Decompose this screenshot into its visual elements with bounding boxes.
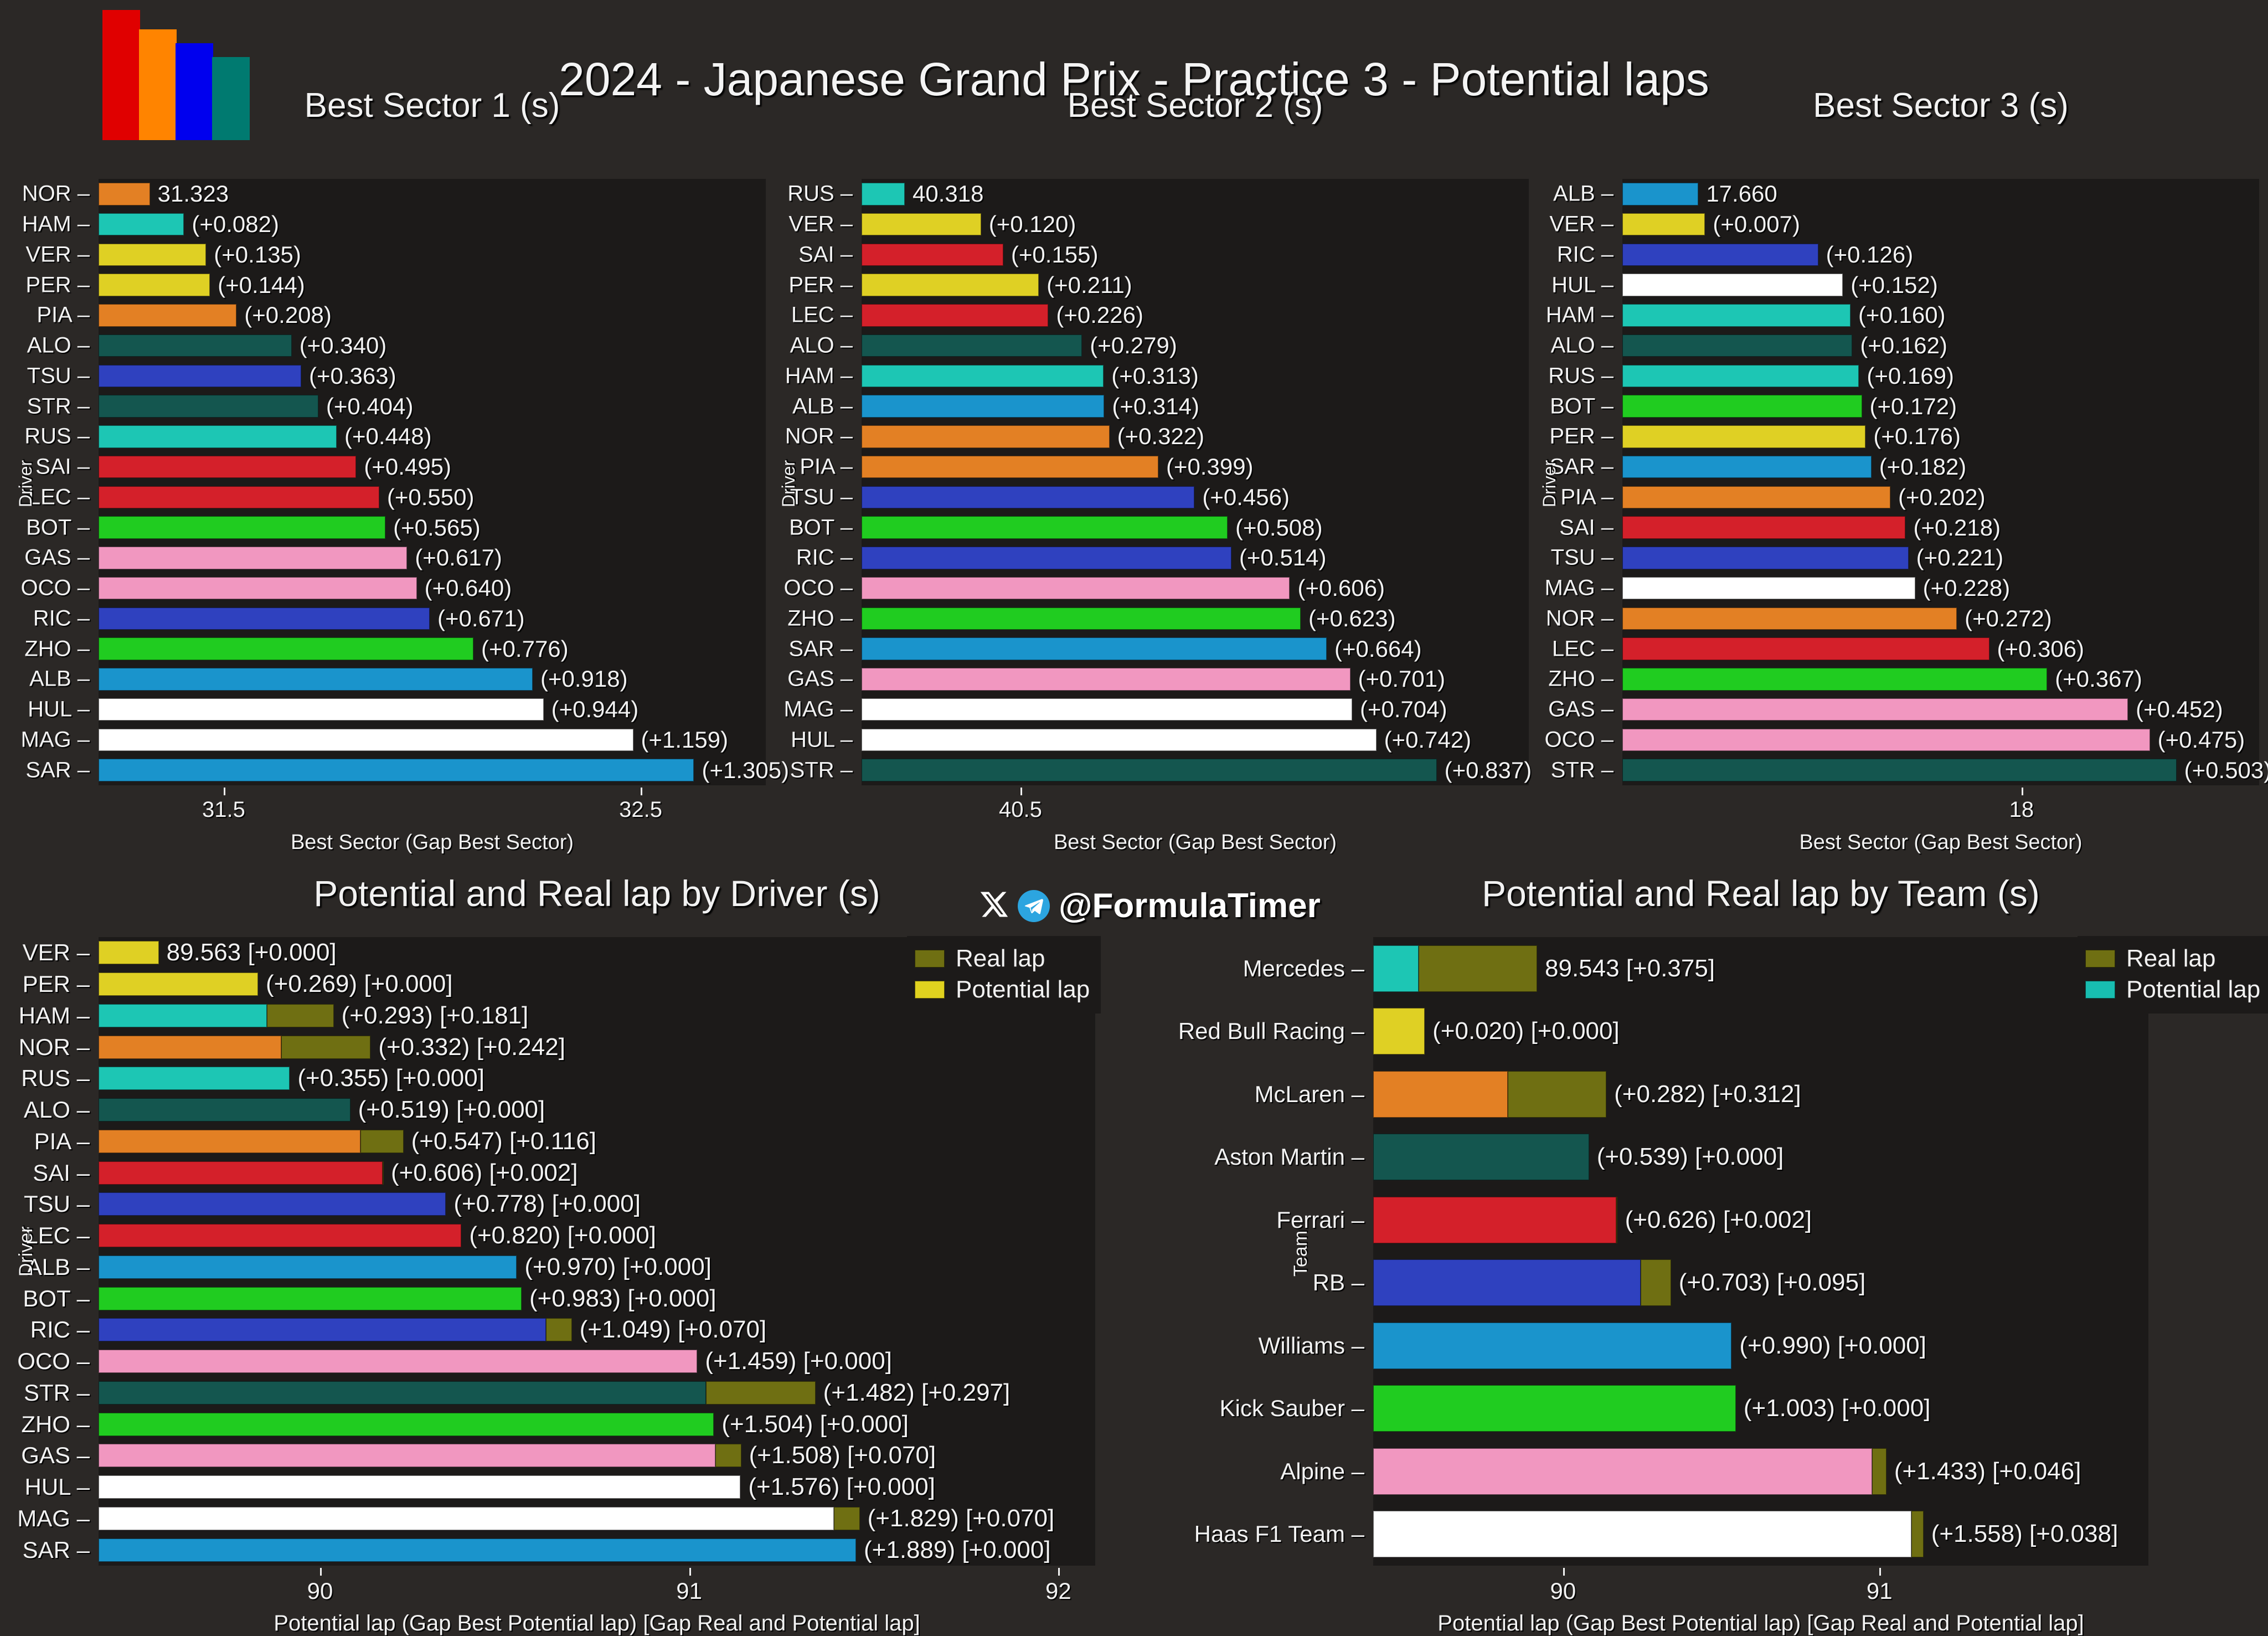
chart-row: ALB –17.660 [1622,183,2259,205]
bar-value-label: (+0.399) [1166,454,1254,480]
bar-potential [99,973,258,996]
row-label: LEC – [1552,636,1614,661]
row-label: VER – [25,242,90,267]
row-label: PIA – [34,1128,90,1155]
bar-potential [1622,213,1705,236]
bar-value-label: (+0.355) [+0.000] [297,1064,484,1092]
bar-potential [1622,759,2177,781]
bar-value-label: (+0.160) [1858,302,1946,328]
bar-potential [862,516,1228,539]
row-label: PER – [788,272,853,297]
x-tick-label: 90 [307,1578,333,1604]
bar-potential [1622,395,1862,418]
chart-row: RB –(+0.703) [+0.095] [1373,1259,2148,1306]
bar-value-label: (+0.363) [309,363,396,389]
chart-row: PER –(+0.144) [99,274,766,296]
bar-potential [99,547,407,569]
chart-row: BOT –(+0.508) [862,516,1529,539]
row-label: OCO – [17,1348,90,1375]
bar-value-label: (+0.742) [1384,727,1472,753]
row-label: Williams – [1259,1333,1364,1359]
bar-potential [862,425,1110,448]
bar-potential [99,425,337,448]
chart-row: MAG –(+1.159) [99,729,766,752]
row-label: Mercedes – [1243,955,1364,982]
bar-value-label: (+1.049) [+0.070] [580,1316,767,1344]
row-label: SAR – [25,758,90,783]
chart-row: RIC –(+0.514) [862,547,1529,569]
bar-value-label: (+0.340) [300,332,387,359]
row-label: TSU – [1551,546,1614,570]
row-label: HAM – [1546,303,1614,328]
bar-potential [1373,1259,1641,1306]
legend-swatch [2085,981,2115,999]
legend-item-potential[interactable]: Potential lap [915,976,1090,1004]
row-label: HUL – [1551,272,1614,297]
chart-row: ALO –(+0.340) [99,335,766,357]
bar-real [360,1130,403,1153]
bar-real [281,1036,370,1059]
y-axis-title: Team [1290,1230,1312,1276]
row-label: VER – [788,212,853,237]
bar-potential [99,668,533,691]
bar-potential [862,668,1351,691]
row-label: VER – [23,939,90,966]
bar-potential [99,1381,706,1405]
bar-value-label: (+0.990) [+0.000] [1739,1332,1926,1360]
chart-row: HUL –(+0.742) [862,729,1529,752]
chart-row: LEC –(+0.306) [1622,637,2259,660]
bar-value-label: (+0.306) [1997,636,2085,662]
legend-label: Real lap [2126,945,2215,973]
row-label: MAG – [784,697,853,722]
x-axis-title: Best Sector (Gap Best Sector) [99,831,766,855]
row-label: SAI – [35,455,90,480]
row-label: HUL – [28,697,90,722]
bar-value-label: (+0.820) [+0.000] [469,1222,656,1249]
row-label: RUS – [1548,363,1614,388]
bar-value-label: (+0.120) [989,211,1076,238]
bar-value-label: (+0.448) [344,423,432,450]
bar-value-label: (+1.433) [+0.046] [1894,1458,2081,1485]
bar-value-label: (+0.202) [1898,484,1986,511]
bar-real [546,1318,572,1341]
chart-row: Aston Martin –(+0.539) [+0.000] [1373,1134,2148,1180]
row-label: RIC – [1557,242,1614,267]
bar-potential [1373,1323,1731,1369]
row-label: SAR – [23,1537,90,1563]
bar-value-label: (+0.503) [2184,757,2268,784]
bar-value-label: 17.660 [1706,181,1777,207]
chart-row: HUL –(+0.152) [1622,274,2259,296]
x-tick-label: 92 [1045,1578,1071,1604]
bar-potential [1622,547,1909,569]
bar-potential [862,244,1003,266]
row-label: VER – [1549,212,1614,237]
bar-value-label: (+0.367) [2055,666,2142,692]
bar-real [267,1004,334,1027]
plot-area: RUS –40.318VER –(+0.120)SAI –(+0.155)PER… [862,179,1529,785]
bar-value-label: (+0.703) [+0.095] [1679,1269,1866,1297]
bar-potential [99,335,292,357]
x-tick [1879,1568,1881,1576]
bar-potential [862,183,905,205]
bar-value-label: 31.323 [158,181,229,207]
row-label: NOR – [19,1034,90,1061]
bar-potential [862,395,1104,418]
chart-title: Best Sector 1 (s) [99,86,766,125]
row-label: SAI – [1559,515,1614,540]
bar-value-label: (+0.182) [1879,454,1967,480]
bar-potential [99,486,379,509]
row-label: ALB – [1553,182,1614,207]
bar-potential [1373,1448,1872,1495]
chart-row: NOR –(+0.332) [+0.242] [99,1036,1095,1059]
x-tick [224,788,225,795]
row-label: TSU – [27,363,90,388]
bar-value-label: (+0.944) [551,696,639,723]
row-label: OCO – [21,576,90,601]
y-axis-title: Driver [779,460,799,507]
chart-title: Best Sector 3 (s) [1622,86,2259,125]
x-tick [1563,1568,1565,1576]
row-label: ZHO – [21,1411,90,1438]
x-axis-title: Best Sector (Gap Best Sector) [862,831,1529,855]
bar-potential [862,637,1327,660]
bar-potential [99,1098,350,1121]
chart-row: Mercedes –89.543 [+0.375] [1373,945,2148,992]
bar-potential [1622,729,2150,752]
chart-row: ALO –(+0.519) [+0.000] [99,1098,1095,1121]
bar-potential [862,335,1082,357]
bar-potential [1373,1008,1425,1054]
bar-real [383,1161,384,1185]
bar-potential [99,1161,383,1185]
bar-potential [1373,1071,1508,1118]
bar-real [1616,1197,1617,1243]
legend-item-real[interactable]: Real lap [2085,945,2260,973]
chart-row: ALB –(+0.314) [862,395,1529,418]
x-axis-title: Best Sector (Gap Best Sector) [1622,831,2259,855]
row-label: STR – [790,758,853,783]
bar-potential [1622,304,1851,327]
row-label: Kick Sauber – [1220,1395,1364,1422]
bar-potential [1622,577,1915,600]
bar-value-label: (+0.837) [1445,757,1532,784]
bar-potential [99,516,385,539]
bar-value-label: (+0.495) [364,454,451,480]
row-label: TSU – [24,1191,90,1217]
chart-row: HUL –(+0.944) [99,698,766,721]
chart-panel-3: Best Sector 3 (s)ALB –17.660VER –(+0.007… [1622,86,2259,784]
chart-row: PIA –(+0.202) [1622,486,2259,509]
bar-real [1419,945,1537,992]
row-label: GAS – [787,667,853,692]
bar-potential [862,759,1437,781]
bar-potential [1622,456,1872,479]
chart-row: Red Bull Racing –(+0.020) [+0.000] [1373,1008,2148,1054]
bar-potential [1373,1385,1736,1432]
bar-potential [1622,608,1957,630]
chart-title: Potential and Real lap by Team (s) [1373,872,2148,914]
bar-potential [99,1224,461,1247]
row-label: PER – [25,272,90,297]
chart-row: TSU –(+0.456) [862,486,1529,509]
row-label: RB – [1313,1269,1364,1296]
bar-potential [862,304,1048,327]
bar-real [834,1507,860,1530]
row-label: HAM – [785,363,853,388]
bar-potential [99,183,150,205]
chart-row: NOR –(+0.272) [1622,608,2259,630]
bar-value-label: (+0.452) [2136,696,2223,723]
x-tick-label: 91 [676,1578,702,1604]
bar-potential [1622,244,1818,266]
bar-value-label: (+0.776) [481,636,569,662]
bar-value-label: (+0.272) [1965,605,2052,632]
row-label: NOR – [22,182,90,207]
bar-potential [1373,945,1419,992]
chart-row: OCO –(+0.640) [99,577,766,600]
legend-label: Potential lap [2126,976,2260,1004]
chart-row: MAG –(+0.704) [862,698,1529,721]
bar-value-label: (+0.313) [1111,363,1199,389]
row-label: ZHO – [24,636,90,661]
bar-value-label: (+1.003) [+0.000] [1744,1395,1931,1422]
bar-potential [1373,1197,1616,1243]
y-axis-title: Driver [16,460,36,507]
chart-row: BOT –(+0.565) [99,516,766,539]
row-label: ALO – [27,333,90,358]
bar-value-label: (+0.606) [+0.002] [391,1159,578,1187]
bar-potential [1622,365,1859,388]
x-tick-label: 18 [2009,798,2034,822]
bar-potential [862,547,1231,569]
chart-row: McLaren –(+0.282) [+0.312] [1373,1071,2148,1118]
bar-potential [862,577,1290,600]
row-label: ALO – [1551,333,1614,358]
chart-row: LEC –(+0.820) [+0.000] [99,1224,1095,1247]
row-label: HUL – [25,1474,90,1500]
bar-potential [99,608,430,630]
bar-value-label: (+0.226) [1056,302,1143,328]
chart-row: ALB –(+0.970) [+0.000] [99,1256,1095,1279]
chart-row: VER –(+0.120) [862,213,1529,236]
x-tick-label: 90 [1550,1578,1576,1604]
chart-title: Best Sector 2 (s) [862,86,1529,125]
row-label: BOT – [23,1285,90,1312]
chart-row: MAG –(+1.829) [+0.070] [99,1507,1095,1530]
bar-potential [99,1507,834,1530]
legend-item-real[interactable]: Real lap [915,945,1090,973]
bar-value-label: (+0.671) [437,605,525,632]
chart-row: SAI –(+0.155) [862,244,1529,266]
bar-value-label: (+0.269) [+0.000] [266,970,453,998]
y-axis-title: Driver [1539,460,1560,507]
bar-potential [99,1004,267,1027]
x-tick [320,1568,322,1576]
chart-row: BOT –(+0.172) [1622,395,2259,418]
x-tick [641,788,642,795]
chart-panel-1: Best Sector 1 (s)NOR –31.323HAM –(+0.082… [99,86,766,784]
row-label: Ferrari – [1276,1207,1364,1233]
bar-real [715,1444,741,1467]
chart-row: Alpine –(+1.433) [+0.046] [1373,1448,2148,1495]
bar-potential [99,456,356,479]
x-tick [689,1568,691,1576]
chart-row: ALB –(+0.918) [99,668,766,691]
bar-real [1911,1511,1924,1557]
chart-row: HUL –(+1.576) [+0.000] [99,1475,1095,1499]
chart-row: SAR –(+0.182) [1622,456,2259,479]
bar-potential [1622,698,2128,721]
row-label: GAS – [21,1442,90,1469]
row-label: HUL – [791,727,853,752]
bar-potential [99,729,633,752]
row-label: ALB – [29,667,90,692]
row-label: STR – [24,1380,90,1406]
bar-potential [1622,274,1843,296]
row-label: PER – [23,971,90,997]
bar-value-label: (+0.983) [+0.000] [529,1285,717,1313]
legend-driver-chart: Real lapPotential lap [907,936,1101,1014]
bar-potential [99,213,184,236]
chart-row: PIA –(+0.208) [99,304,766,327]
row-label: SAR – [788,636,853,661]
chart-row: PIA –(+0.547) [+0.116] [99,1130,1095,1153]
x-tick [2022,788,2023,795]
bar-potential [862,729,1377,752]
row-label: RUS – [24,424,90,449]
row-label: ZHO – [1548,667,1614,692]
chart-row: GAS –(+1.508) [+0.070] [99,1444,1095,1467]
chart-row: OCO –(+1.459) [+0.000] [99,1350,1095,1373]
bar-potential [99,1067,290,1090]
row-label: SAI – [33,1160,90,1186]
chart-row: STR –(+0.404) [99,395,766,418]
bar-potential [1622,425,1865,448]
row-label: LEC – [28,485,90,510]
chart-panel-2: Best Sector 2 (s)RUS –40.318VER –(+0.120… [862,86,1529,784]
chart-row: PER –(+0.211) [862,274,1529,296]
bar-value-label: (+0.626) [+0.002] [1625,1206,1812,1234]
row-label: NOR – [1546,606,1614,631]
bar-potential [99,365,301,388]
bar-value-label: (+0.565) [393,515,481,541]
bar-value-label: (+0.211) [1047,272,1132,299]
bar-value-label: (+1.504) [+0.000] [721,1411,909,1438]
bar-real [1641,1259,1671,1306]
chart-row: RIC –(+0.671) [99,608,766,630]
bar-value-label: (+1.159) [641,727,729,753]
bar-potential [1373,1134,1589,1180]
row-label: STR – [1551,758,1614,783]
chart-row: BOT –(+0.983) [+0.000] [99,1287,1095,1310]
bar-potential [99,1413,714,1436]
bar-potential [99,1475,740,1499]
chart-row: Williams –(+0.990) [+0.000] [1373,1323,2148,1369]
bar-value-label: (+0.704) [1360,696,1447,723]
bar-potential [1622,335,1852,357]
chart-row: LEC –(+0.226) [862,304,1529,327]
bar-potential [862,486,1194,509]
chart-row: ZHO –(+0.776) [99,637,766,660]
bar-value-label: (+1.459) [+0.000] [705,1347,892,1375]
row-label: Haas F1 Team – [1194,1521,1364,1547]
bar-potential [99,941,159,964]
social-handle-text: @FormulaTimer [1059,886,1321,925]
x-axis-title: Potential lap (Gap Best Potential lap) [… [1373,1611,2148,1636]
chart-row: RUS –(+0.355) [+0.000] [99,1067,1095,1090]
row-label: Alpine – [1280,1458,1364,1485]
bar-value-label: (+0.293) [+0.181] [342,1002,529,1030]
row-label: McLaren – [1255,1081,1364,1108]
row-label: PIA – [37,303,90,328]
row-label: ZHO – [787,606,853,631]
legend-item-potential[interactable]: Potential lap [2085,976,2260,1004]
row-label: RIC – [30,1316,90,1343]
bar-value-label: (+1.829) [+0.070] [868,1505,1055,1532]
bar-potential [862,608,1301,630]
plot-area: Mercedes –89.543 [+0.375]Red Bull Racing… [1373,937,2148,1566]
bar-value-label: (+0.701) [1358,666,1446,692]
bar-value-label: 89.543 [+0.375] [1545,955,1715,982]
row-label: LEC – [791,303,853,328]
chart-row: PER –(+0.176) [1622,425,2259,448]
row-label: NOR – [785,424,853,449]
chart-row: HAM –(+0.082) [99,213,766,236]
chart-row: Ferrari –(+0.626) [+0.002] [1373,1197,2148,1243]
bar-value-label: (+0.020) [+0.000] [1432,1017,1620,1045]
bar-potential [99,577,417,600]
row-label: Aston Martin – [1214,1144,1364,1170]
row-label: BOT – [789,515,853,540]
bar-potential [99,304,236,327]
bar-value-label: (+0.155) [1011,241,1099,268]
bar-potential [99,759,694,781]
chart-row: TSU –(+0.221) [1622,547,2259,569]
bar-potential [99,1130,360,1153]
chart-row: VER –(+0.135) [99,244,766,266]
row-label: PIA – [800,455,853,480]
bar-value-label: (+0.550) [387,484,475,511]
bar-potential [99,274,210,296]
bar-value-label: (+0.918) [540,666,628,692]
chart-row: RIC –(+0.126) [1622,244,2259,266]
bar-potential [99,1318,546,1341]
chart-row: LEC –(+0.550) [99,486,766,509]
bar-potential [862,456,1158,479]
legend-swatch [915,981,945,999]
bar-potential [862,365,1104,388]
bar-value-label: (+0.508) [1235,515,1323,541]
row-label: GAS – [1548,697,1614,722]
bar-potential [1622,637,1989,660]
bar-value-label: (+0.208) [244,302,332,328]
bar-value-label: (+0.282) [+0.312] [1614,1081,1801,1108]
bar-value-label: (+0.514) [1239,544,1327,571]
row-label: BOT – [1550,394,1614,419]
bar-value-label: (+1.482) [+0.297] [823,1379,1011,1407]
x-tick [1020,788,1022,795]
bar-value-label: (+0.135) [214,241,301,268]
bar-value-label: 89.563 [+0.000] [167,939,337,966]
bar-value-label: (+1.576) [+0.000] [748,1473,935,1501]
chart-row: RUS –40.318 [862,183,1529,205]
bar-potential [99,1350,697,1373]
bar-value-label: (+1.558) [+0.038] [1931,1520,2118,1548]
chart-row: RIC –(+1.049) [+0.070] [99,1318,1095,1341]
